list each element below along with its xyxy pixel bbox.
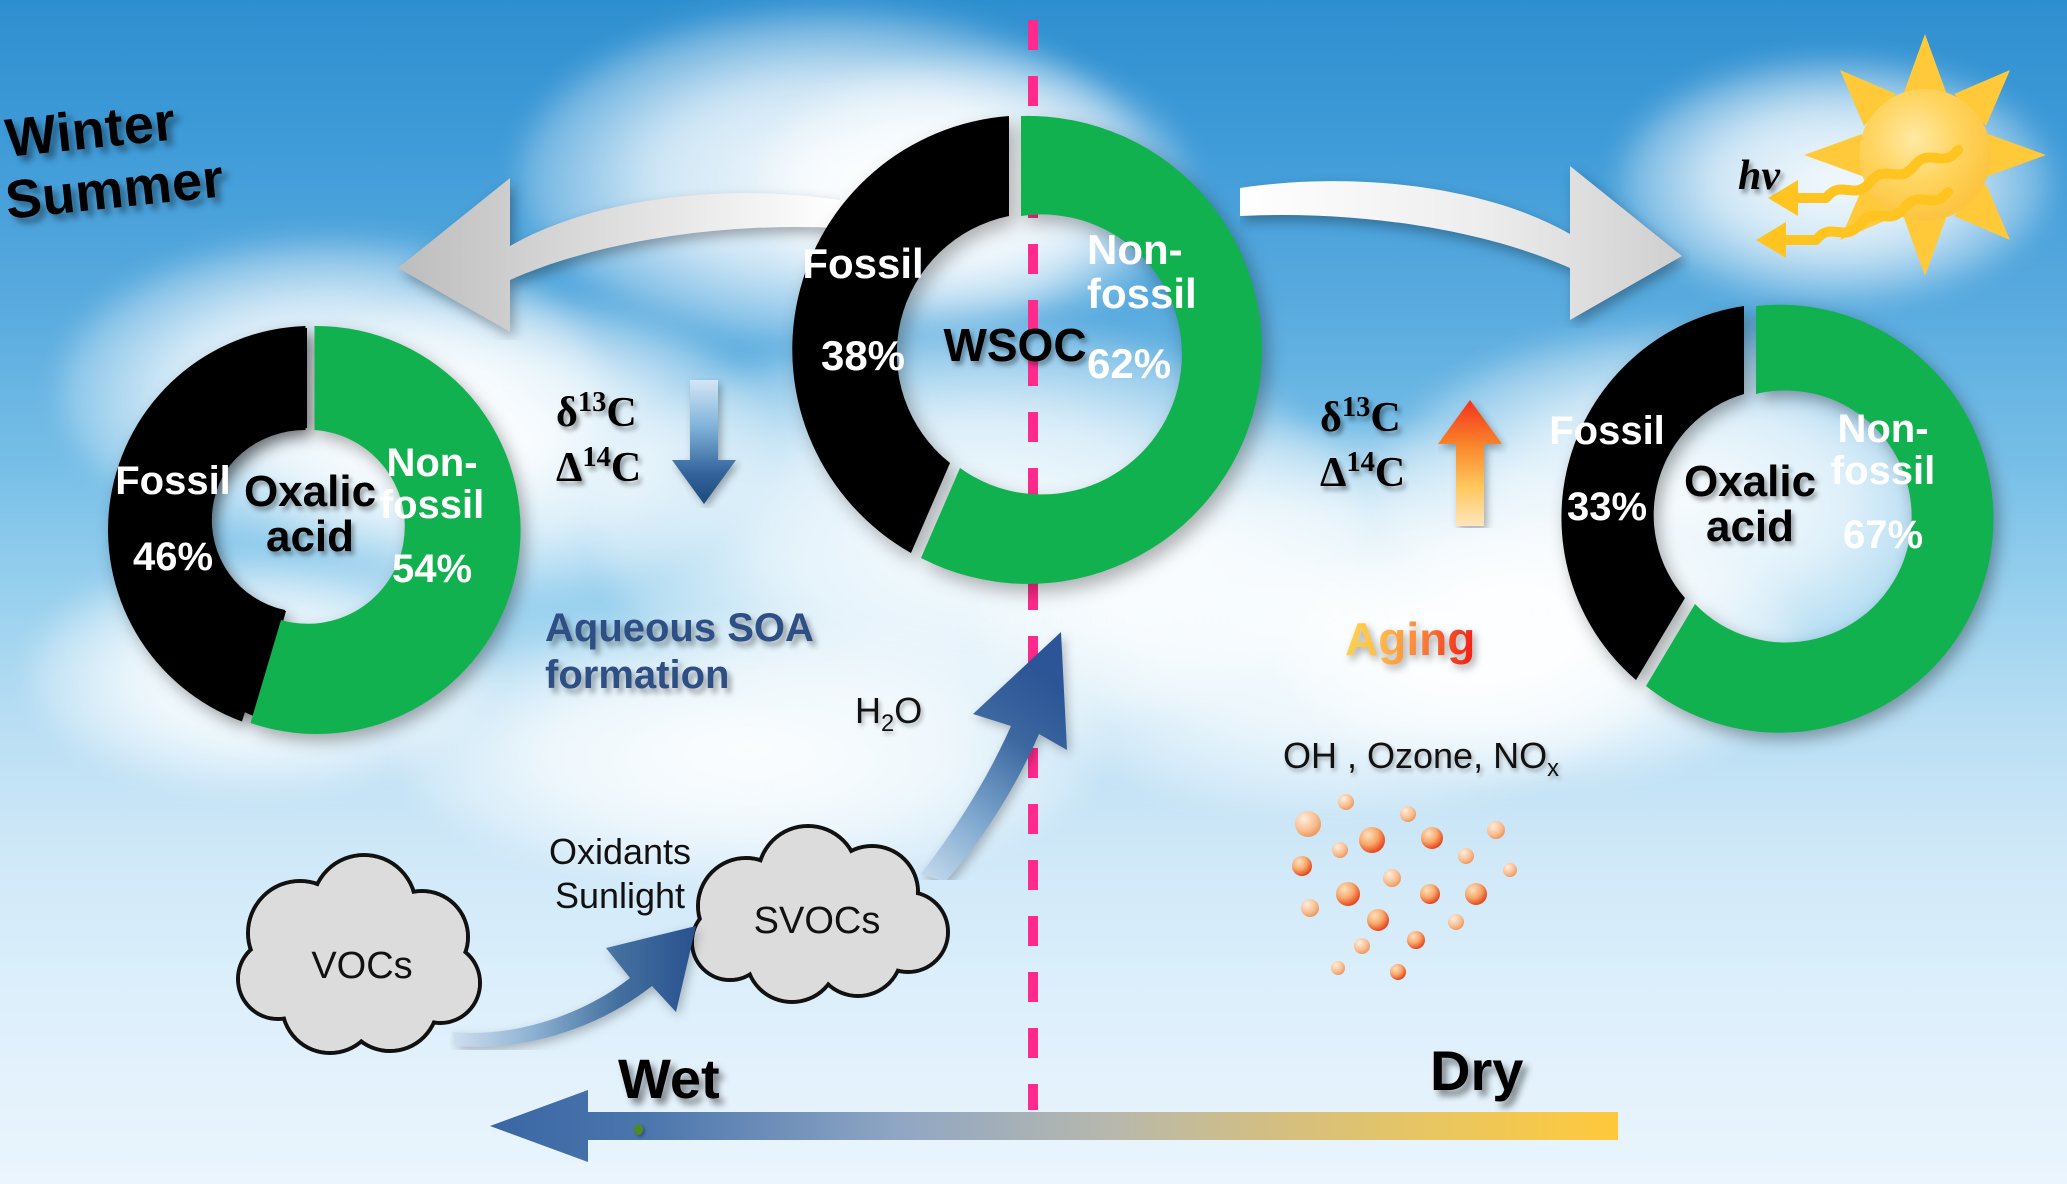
winter-isotope-labels: δ13C Δ14C [556,385,641,494]
water-2: 2 [881,710,894,737]
oxidants-line2: Sunlight [500,874,740,918]
summer-d13c-element: C [1370,395,1400,441]
moisture-gradient-axis-icon [490,1090,1620,1170]
summer-d13c-symbol: δ [1320,395,1342,441]
winter-d14c-symbol: Δ [556,445,582,491]
summer-d14c-mass: 14 [1346,447,1375,478]
oxidants-line1: Oxidants [500,830,740,874]
water-h: H [855,690,881,731]
summer-increase-arrow-icon [1438,400,1508,528]
winter-d13c-label: δ13C [556,385,641,440]
aqueous-soa-label: Aqueous SOA formation [545,605,925,699]
summer-d14c-symbol: Δ [1320,450,1346,496]
sunlight-rays-icon [1680,140,1970,290]
chart-wsoc: WSOC Fossil 38% Non- fossil 62% [775,110,1255,590]
aging-label: Aging [1345,612,1475,666]
winter-d14c-mass: 14 [582,442,611,473]
oxidant-species-main: OH , Ozone, NO [1283,735,1547,776]
winter-d13c-symbol: δ [556,390,578,436]
chart-oxalic-acid-winter: Oxalic acid Fossil 46% Non- fossil 54% [100,320,520,740]
winter-decrease-arrow-icon [672,378,742,508]
summer-d13c-label: δ13C [1320,390,1405,445]
oxidants-sunlight-label: Oxidants Sunlight [500,830,740,918]
winter-flow-arrow-icon [390,160,840,340]
summer-d14c-label: Δ14C [1320,445,1405,500]
water-label: H2O [855,690,922,738]
summer-isotope-labels: δ13C Δ14C [1320,390,1405,499]
oxidant-species-label: OH , Ozone, NOx [1283,735,1559,783]
chart-oxalic-acid-summer: Oxalic acid Fossil 33% Non- fossil 67% [1530,300,1970,740]
vocs-to-svocs-arrow-icon [450,920,710,1050]
winter-d13c-element: C [606,390,636,436]
winter-d13c-mass: 13 [578,387,607,418]
winter-d14c-label: Δ14C [556,440,641,495]
summer-d13c-mass: 13 [1342,392,1371,423]
photon-energy-label: hv [1738,152,1780,200]
aerosol-particles-icon [1280,790,1580,990]
marker-dot [634,1124,643,1135]
winter-d14c-element: C [611,445,641,491]
oxidant-species-sub: x [1547,755,1559,782]
aqueous-soa-line1: Aqueous SOA [545,605,925,652]
graphical-abstract: Winter Summer [0,0,2067,1184]
summer-d14c-element: C [1375,450,1405,496]
